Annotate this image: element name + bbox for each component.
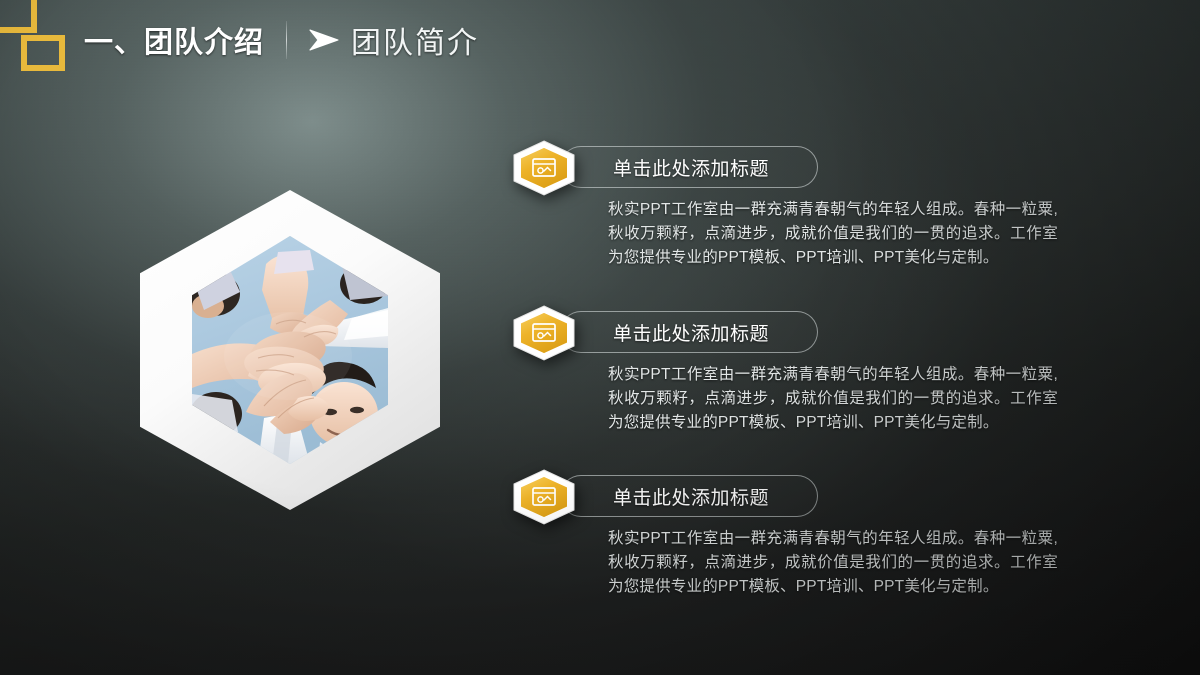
page-title: 团队简介 bbox=[351, 18, 479, 62]
header-divider bbox=[286, 21, 287, 59]
corner-bracket-decoration-icon bbox=[0, 0, 72, 72]
item-title-pill[interactable]: 单击此处添加标题 bbox=[560, 475, 818, 517]
item-title-pill[interactable]: 单击此处添加标题 bbox=[560, 146, 818, 188]
item-title-pill[interactable]: 单击此处添加标题 bbox=[560, 311, 818, 353]
item-description: 秋实PPT工作室由一群充满青春朝气的年轻人组成。春种一粒粟,秋收万颗籽，点滴进步… bbox=[608, 527, 1058, 599]
arrow-right-icon bbox=[307, 27, 341, 53]
slide-image-icon[interactable] bbox=[512, 469, 576, 525]
item-description: 秋实PPT工作室由一群充满青春朝气的年轻人组成。春种一粒粟,秋收万颗籽，点滴进步… bbox=[608, 198, 1058, 270]
slide-image-icon[interactable] bbox=[512, 305, 576, 361]
slide-image-icon[interactable] bbox=[512, 140, 576, 196]
slide-header: 一、团队介绍 团队简介 bbox=[84, 16, 479, 64]
presentation-slide: 一、团队介绍 团队简介 bbox=[0, 0, 1200, 675]
item-title: 单击此处添加标题 bbox=[613, 483, 769, 510]
item-description: 秋实PPT工作室由一群充满青春朝气的年轻人组成。春种一粒粟,秋收万颗籽，点滴进步… bbox=[608, 363, 1058, 435]
header-section-index: 一、团队介绍 bbox=[84, 19, 264, 61]
item-title: 单击此处添加标题 bbox=[613, 154, 769, 181]
item-title: 单击此处添加标题 bbox=[613, 319, 769, 346]
team-photo-hexagon bbox=[140, 190, 440, 510]
